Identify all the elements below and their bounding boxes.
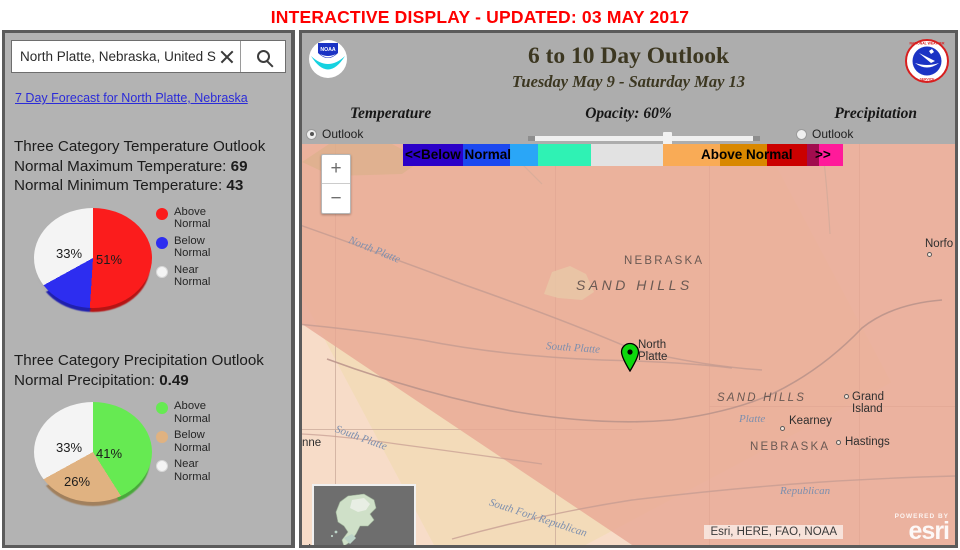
temperature-outlook-section: Three Category Temperature Outlook Norma… bbox=[14, 137, 294, 324]
search-button[interactable] bbox=[241, 41, 285, 72]
temperature-pie-chart: 51%33% bbox=[34, 208, 156, 320]
legend-item: NearNormal bbox=[156, 264, 230, 289]
temperature-section-title: Three Category Temperature Outlook bbox=[14, 137, 294, 157]
esri-wordmark: esri bbox=[895, 520, 949, 543]
opacity-slider-track[interactable] bbox=[528, 136, 760, 141]
legend-item-label: AboveNormal bbox=[174, 400, 230, 425]
legend-color-dot bbox=[156, 266, 168, 278]
map-canvas[interactable]: NEBRASKASAND HILLSSAND HILLSNEBRASKANort… bbox=[302, 144, 955, 545]
normal-precipitation-value: 0.49 bbox=[159, 372, 189, 389]
legend-color-dot bbox=[156, 460, 168, 472]
legend-item: AboveNormal bbox=[156, 206, 230, 231]
outlook-title: 6 to 10 Day Outlook bbox=[302, 43, 955, 70]
app-root: INTERACTIVE DISPLAY - UPDATED: 03 MAY 20… bbox=[0, 0, 960, 550]
pie-body bbox=[34, 208, 152, 308]
precipitation-pie-legend: AboveNormalBelowNormalNearNormal bbox=[156, 400, 230, 488]
map-attribution: Esri, HERE, FAO, NOAA bbox=[704, 525, 843, 539]
legend-color-segment bbox=[510, 144, 538, 166]
legend-color-dot bbox=[156, 402, 168, 414]
search-input-wrap bbox=[12, 41, 241, 72]
precipitation-pie-chart: 41%26%33% bbox=[34, 402, 156, 514]
normal-min-temperature-row: Normal Minimum Temperature: 43 bbox=[14, 176, 294, 196]
magnifier-icon bbox=[257, 50, 270, 63]
normal-min-temperature-label: Normal Minimum Temperature: bbox=[14, 177, 226, 194]
map-terrain-patch bbox=[542, 264, 602, 304]
normal-min-temperature-value: 43 bbox=[226, 177, 243, 194]
legend-item-label: NearNormal bbox=[174, 264, 230, 289]
map-header: NOAA NATIONAL WEATHER SERVICE 6 to 10 Da… bbox=[302, 33, 955, 144]
precipitation-outlook-radio[interactable]: Outlook bbox=[796, 127, 853, 141]
map-city-dot bbox=[844, 394, 849, 399]
legend-item-label: BelowNormal bbox=[174, 235, 230, 260]
map-panel: NOAA NATIONAL WEATHER SERVICE 6 to 10 Da… bbox=[299, 30, 958, 548]
radio-indicator[interactable] bbox=[306, 129, 317, 140]
precipitation-chart-row: 41%26%33% AboveNormalBelowNormalNearNorm… bbox=[14, 400, 294, 518]
legend-item: NearNormal bbox=[156, 458, 230, 483]
legend-item: AboveNormal bbox=[156, 400, 230, 425]
precipitation-section-title: Three Category Precipitation Outlook bbox=[14, 351, 294, 371]
map-city-dot bbox=[927, 252, 932, 257]
location-marker-label: North Platte bbox=[638, 340, 667, 363]
normal-max-temperature-label: Normal Maximum Temperature: bbox=[14, 158, 231, 175]
legend-below-normal: Below Normal bbox=[421, 144, 511, 166]
marker-label-line2: Platte bbox=[638, 352, 667, 364]
alaska-inset-map[interactable]: Esri, HERE, FAO, NOAA bbox=[312, 484, 416, 545]
alaska-shape bbox=[330, 492, 400, 545]
inset-attribution: Esri, HERE, FAO, NOAA bbox=[378, 544, 411, 545]
legend-left-arrows: << bbox=[405, 144, 421, 166]
normal-max-temperature-value: 69 bbox=[231, 158, 248, 175]
esri-branding: POWERED BY esri bbox=[895, 513, 949, 543]
normal-max-temperature-row: Normal Maximum Temperature: 69 bbox=[14, 157, 294, 177]
legend-above-normal: Above Normal bbox=[701, 144, 793, 166]
outlook-date-range: Tuesday May 9 - Saturday May 13 bbox=[302, 72, 955, 92]
precipitation-outlook-radio-label: Outlook bbox=[812, 127, 853, 141]
temperature-outlook-radio[interactable]: Outlook bbox=[306, 127, 363, 141]
left-sidebar: 7 Day Forecast for North Platte, Nebrask… bbox=[2, 30, 295, 548]
map-city-dot bbox=[836, 440, 841, 445]
precipitation-control-label: Precipitation bbox=[834, 105, 917, 123]
outlook-legend-bar: << Below Normal Above Normal >> bbox=[403, 144, 843, 166]
legend-color-segment bbox=[538, 144, 591, 166]
opacity-slider[interactable] bbox=[528, 132, 760, 144]
precipitation-outlook-section: Three Category Precipitation Outlook Nor… bbox=[14, 351, 294, 518]
pie-body bbox=[34, 402, 152, 502]
search-input[interactable] bbox=[12, 49, 240, 64]
normal-precipitation-row: Normal Precipitation: 0.49 bbox=[14, 371, 294, 391]
radio-indicator[interactable] bbox=[796, 129, 807, 140]
normal-precipitation-label: Normal Precipitation: bbox=[14, 372, 159, 389]
update-banner: INTERACTIVE DISPLAY - UPDATED: 03 MAY 20… bbox=[0, 0, 960, 34]
legend-item: BelowNormal bbox=[156, 429, 230, 454]
update-banner-text: INTERACTIVE DISPLAY - UPDATED: 03 MAY 20… bbox=[271, 7, 689, 28]
search-bar bbox=[11, 40, 286, 73]
legend-color-dot bbox=[156, 237, 168, 249]
legend-right-arrows: >> bbox=[815, 144, 831, 166]
legend-color-segment bbox=[591, 144, 663, 166]
zoom-in-button[interactable]: + bbox=[322, 155, 350, 184]
legend-item-label: NearNormal bbox=[174, 458, 230, 483]
legend-item-label: BelowNormal bbox=[174, 429, 230, 454]
location-marker-pin[interactable] bbox=[620, 342, 640, 372]
map-city-dot bbox=[780, 426, 785, 431]
legend-item-label: AboveNormal bbox=[174, 206, 230, 231]
temperature-pie-legend: AboveNormalBelowNormalNearNormal bbox=[156, 206, 230, 294]
legend-color-dot bbox=[156, 208, 168, 220]
forecast-link[interactable]: 7 Day Forecast for North Platte, Nebrask… bbox=[15, 91, 248, 105]
zoom-out-button[interactable]: − bbox=[322, 184, 350, 213]
zoom-control[interactable]: + − bbox=[321, 154, 351, 214]
legend-item: BelowNormal bbox=[156, 235, 230, 260]
marker-label-line1: North bbox=[638, 340, 667, 352]
temperature-outlook-radio-label: Outlook bbox=[322, 127, 363, 141]
close-x-icon[interactable] bbox=[219, 49, 235, 65]
temperature-chart-row: 51%33% AboveNormalBelowNormalNearNormal bbox=[14, 206, 294, 324]
legend-color-dot bbox=[156, 431, 168, 443]
